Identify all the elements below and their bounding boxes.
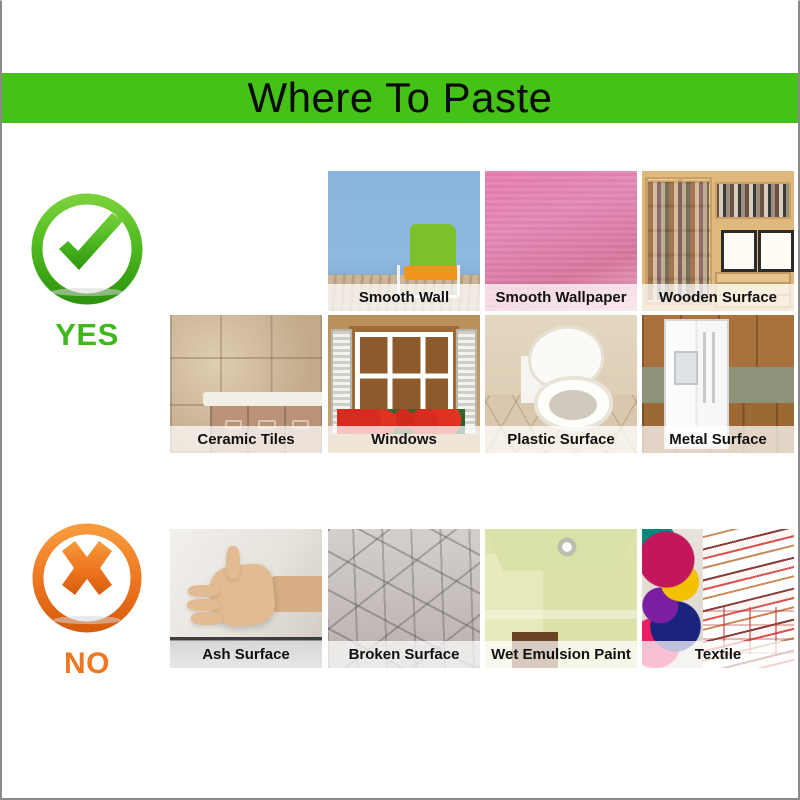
header-band: Where To Paste: [2, 73, 798, 123]
page-title: Where To Paste: [247, 77, 552, 119]
check-circle-icon: [26, 191, 148, 313]
tile-caption: Ceramic Tiles: [197, 431, 294, 448]
caption-bar: Smooth Wallpaper: [485, 284, 637, 311]
tile-caption: Textile: [695, 646, 741, 663]
tile-textile[interactable]: Textile: [642, 529, 794, 668]
tile-caption: Wooden Surface: [659, 289, 777, 306]
caption-bar: Metal Surface: [642, 426, 794, 453]
tile-ash-surface[interactable]: Ash Surface: [170, 529, 322, 668]
verdict-no-label: NO: [64, 647, 110, 681]
tile-caption: Plastic Surface: [507, 431, 615, 448]
verdict-yes-label: YES: [55, 317, 119, 353]
tile-metal-surface[interactable]: Metal Surface: [642, 315, 794, 453]
tile-ceramic-tiles[interactable]: Ceramic Tiles: [170, 315, 322, 453]
tile-smooth-wallpaper[interactable]: Smooth Wallpaper: [485, 171, 637, 311]
caption-bar: Windows: [328, 426, 480, 453]
tile-windows[interactable]: Windows: [328, 315, 480, 453]
verdict-yes: YES: [12, 191, 162, 353]
caption-bar: Textile: [642, 641, 794, 668]
tile-caption: Windows: [371, 431, 437, 448]
tile-wet-emulsion-paint[interactable]: Wet Emulsion Paint: [485, 529, 637, 668]
x-circle-icon: [26, 521, 148, 643]
caption-bar: Smooth Wall: [328, 284, 480, 311]
tile-caption: Metal Surface: [669, 431, 767, 448]
caption-bar: Wet Emulsion Paint: [485, 641, 637, 668]
caption-bar: Ceramic Tiles: [170, 426, 322, 453]
tile-plastic-surface[interactable]: Plastic Surface: [485, 315, 637, 453]
tile-caption: Smooth Wallpaper: [495, 289, 626, 306]
caption-bar: Broken Surface: [328, 641, 480, 668]
verdict-no: NO: [12, 521, 162, 681]
tile-broken-surface[interactable]: Broken Surface: [328, 529, 480, 668]
caption-bar: Wooden Surface: [642, 284, 794, 311]
tile-caption: Wet Emulsion Paint: [491, 646, 631, 663]
infographic-page: Where To Paste YES: [0, 0, 800, 800]
caption-bar: Plastic Surface: [485, 426, 637, 453]
tile-smooth-wall[interactable]: Smooth Wall: [328, 171, 480, 311]
caption-bar: Ash Surface: [170, 641, 322, 668]
tile-caption: Broken Surface: [349, 646, 460, 663]
tile-wooden-surface[interactable]: Wooden Surface: [642, 171, 794, 311]
tile-caption: Smooth Wall: [359, 289, 449, 306]
tile-caption: Ash Surface: [202, 646, 290, 663]
